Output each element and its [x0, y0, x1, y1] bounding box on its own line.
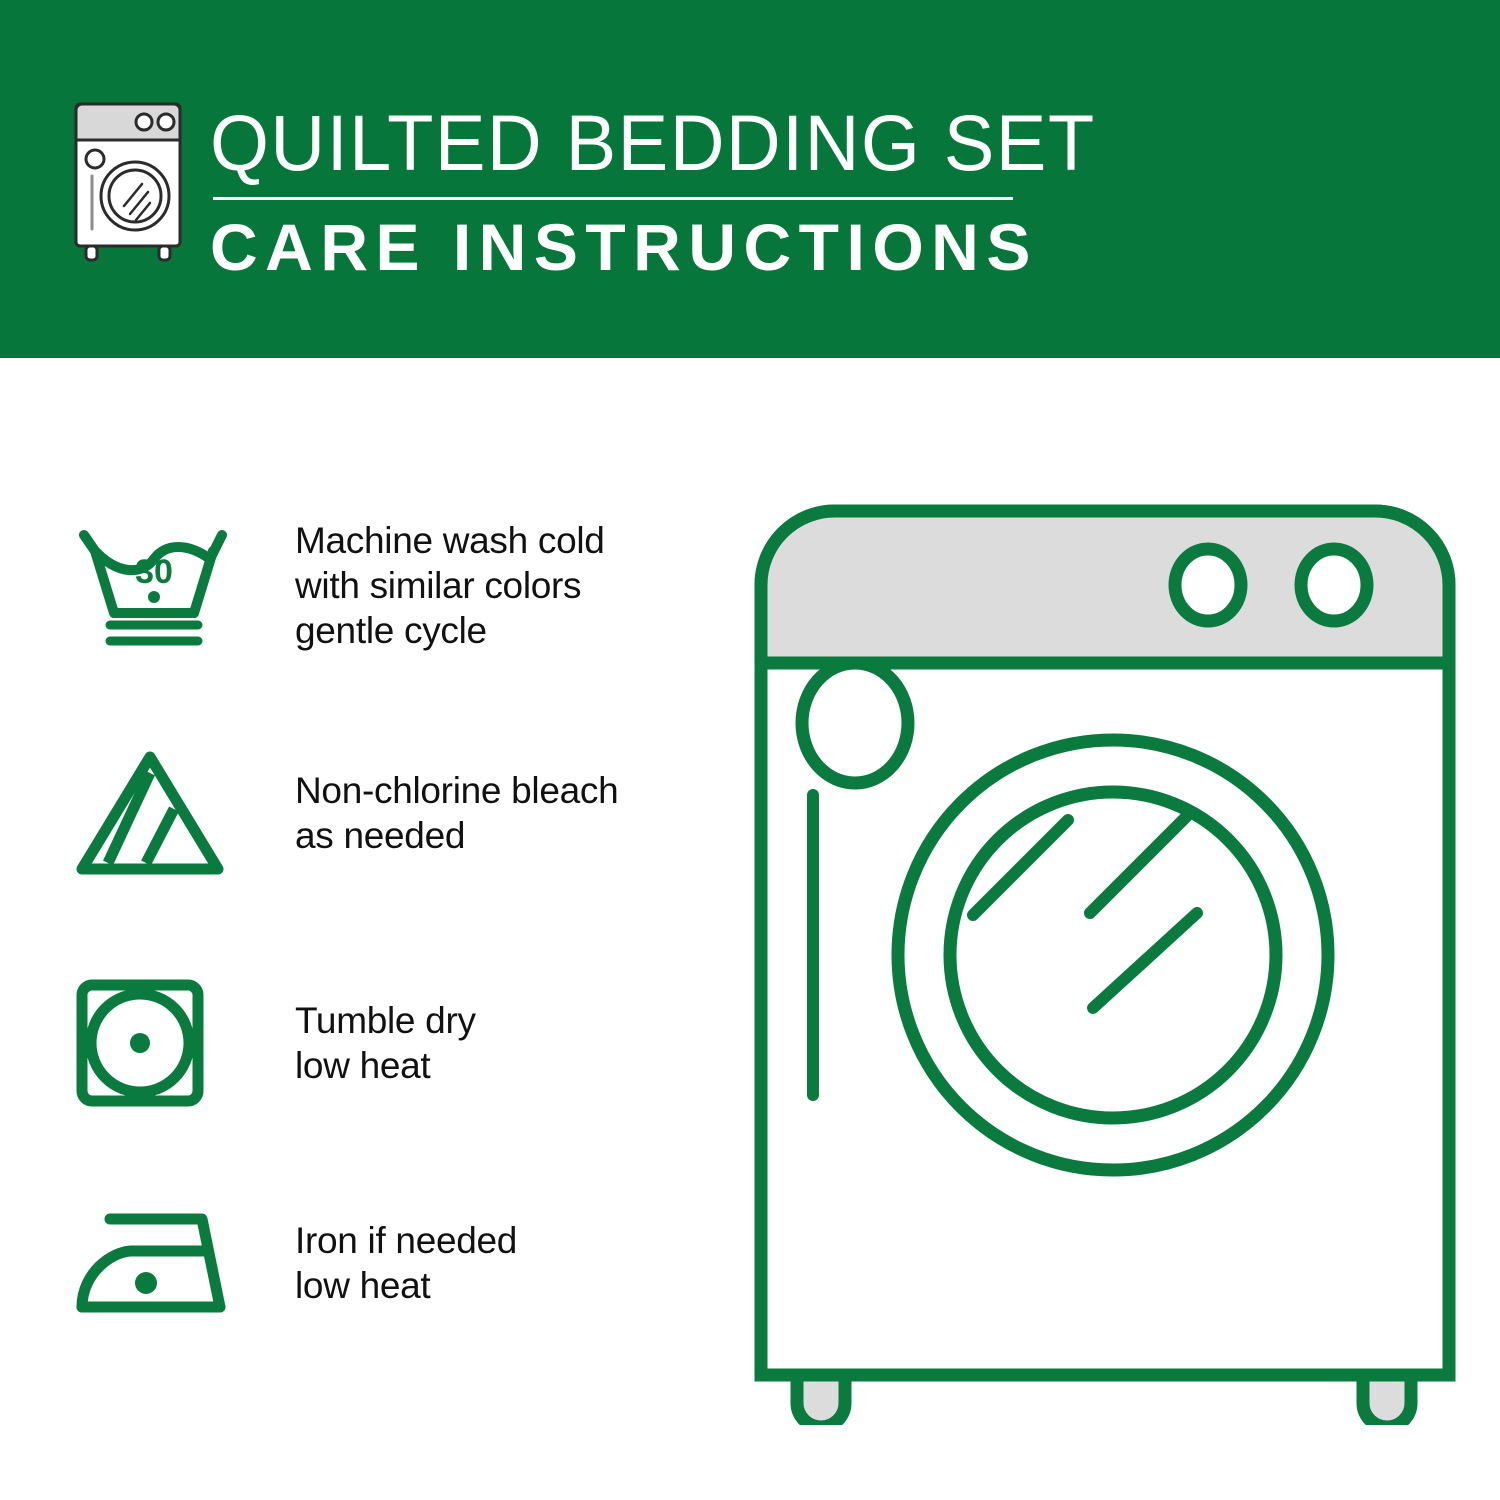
- care-text-line-2: low heat: [295, 1263, 517, 1308]
- gentle-dot: [148, 591, 160, 603]
- care-instruction-text: Tumble dry low heat: [295, 998, 476, 1088]
- non-chlorine-bleach-triangle-icon: [70, 743, 230, 883]
- header-title-group: QUILTED BEDDING SET CARE INSTRUCTIONS: [210, 96, 1133, 282]
- header-content: QUILTED BEDDING SET CARE INSTRUCTIONS: [62, 96, 1133, 282]
- care-text-line-2: low heat: [295, 1043, 476, 1088]
- wash-tub-30-icon: 30: [70, 521, 238, 651]
- care-instruction-row: Iron if needed low heat: [70, 1203, 710, 1323]
- care-icon-slot: [70, 973, 245, 1113]
- care-instruction-row: Non-chlorine bleach as needed: [70, 743, 710, 883]
- low-heat-dot: [130, 1033, 150, 1053]
- title-divider: [213, 197, 1013, 200]
- low-heat-dot: [135, 1272, 157, 1294]
- care-text-line-2: with similar colors: [295, 563, 605, 608]
- wash-temperature-label: 30: [135, 553, 173, 591]
- iron-low-heat-icon: [70, 1203, 240, 1323]
- door-inner-ring: [950, 792, 1276, 1118]
- detergent-drawer-circle: [802, 663, 908, 783]
- care-icon-slot: [70, 1203, 245, 1323]
- care-instruction-text: Non-chlorine bleach as needed: [295, 768, 618, 858]
- care-text-line-1: Machine wash cold: [295, 518, 605, 563]
- care-icon-slot: [70, 743, 245, 883]
- tumble-dry-low-icon: [70, 973, 210, 1113]
- leg-right: [1363, 1375, 1411, 1425]
- care-instruction-row: 30 Machine wash cold with similar colors…: [70, 518, 710, 653]
- header-banner: QUILTED BEDDING SET CARE INSTRUCTIONS: [0, 0, 1500, 358]
- leg-left: [797, 1375, 845, 1425]
- care-text-line-3: gentle cycle: [295, 608, 605, 653]
- care-icon-slot: 30: [70, 521, 245, 651]
- knob-right: [1301, 549, 1367, 621]
- care-instruction-text: Iron if needed low heat: [295, 1218, 517, 1308]
- care-instruction-row: Tumble dry low heat: [70, 973, 710, 1113]
- care-instruction-text: Machine wash cold with similar colors ge…: [295, 518, 605, 653]
- care-text-line-1: Non-chlorine bleach: [295, 768, 618, 813]
- page-subtitle: CARE INSTRUCTIONS: [210, 212, 1133, 282]
- knob-left: [1175, 549, 1241, 621]
- front-load-washing-machine-illustration: [745, 495, 1465, 1425]
- care-instruction-list: 30 Machine wash cold with similar colors…: [0, 358, 720, 1500]
- page-title: QUILTED BEDDING SET: [210, 102, 1096, 184]
- care-text-line-1: Iron if needed: [295, 1218, 517, 1263]
- care-text-line-2: as needed: [295, 813, 618, 858]
- washing-machine-icon: [62, 96, 194, 264]
- care-text-line-1: Tumble dry: [295, 998, 476, 1043]
